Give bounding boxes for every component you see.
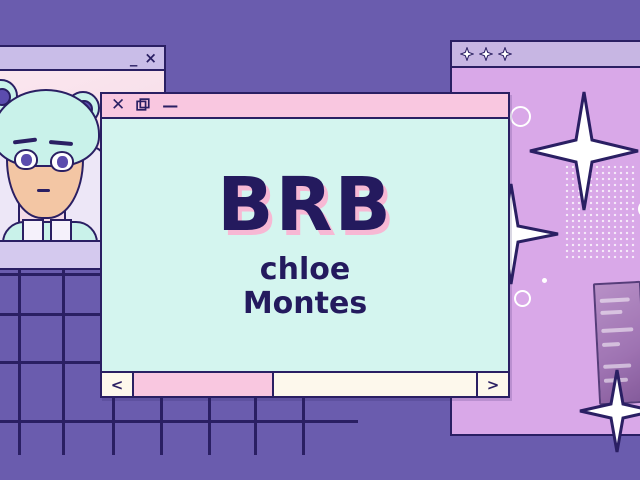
brb-window-title-bar[interactable]: ✕ — (102, 94, 508, 119)
sparkle-diamond-icon (460, 47, 474, 61)
grid-line-vertical (62, 265, 65, 455)
four-point-star-corner-icon (578, 368, 640, 454)
dot-icon (542, 278, 547, 283)
halftone-pattern (564, 164, 636, 260)
page-title: BRB (217, 169, 393, 242)
grid-line-horizontal (0, 420, 358, 423)
restore-icon[interactable] (136, 98, 151, 113)
subtitle-line-1: chloe (260, 253, 350, 287)
minimize-icon[interactable]: _ (130, 51, 138, 66)
ring-circle-icon (514, 290, 531, 307)
grid-line-horizontal (0, 361, 105, 364)
canvas: _ × (0, 0, 640, 480)
horizontal-scrollbar[interactable]: < > (102, 371, 508, 396)
sparkle-diamond-icon (498, 47, 512, 61)
sparkle-window-title-bar[interactable] (452, 42, 640, 68)
scrollbar-track[interactable] (134, 373, 476, 396)
close-icon[interactable]: ✕ (111, 97, 125, 114)
brb-window[interactable]: ✕ — BRB chloe Montes < > (100, 92, 510, 398)
close-icon[interactable]: × (144, 51, 157, 66)
eye-right (50, 151, 74, 172)
eye-left (14, 149, 38, 170)
brb-window-content: BRB chloe Montes (102, 119, 508, 371)
minimize-icon[interactable]: — (162, 98, 178, 114)
portrait-window-title-bar[interactable]: _ × (0, 47, 164, 71)
scroll-left-arrow[interactable]: < (102, 373, 134, 396)
ring-circle-icon (510, 106, 531, 127)
mouth (37, 189, 50, 192)
sparkle-diamond-icon (479, 47, 493, 61)
grid-line-vertical (18, 265, 21, 455)
scroll-right-arrow[interactable]: > (476, 373, 508, 396)
scrollbar-thumb[interactable] (134, 373, 274, 396)
subtitle-line-2: Montes (243, 287, 367, 321)
